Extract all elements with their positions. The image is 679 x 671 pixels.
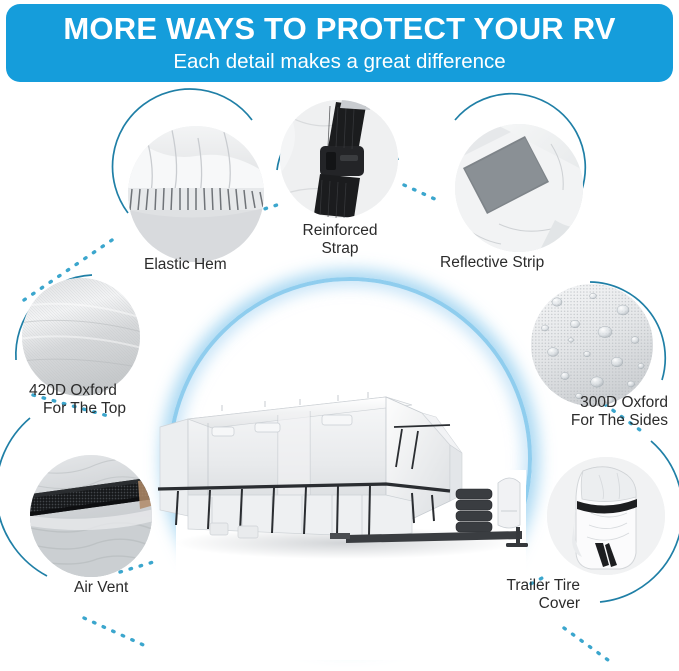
feature-label-line-1: 420D Oxford xyxy=(29,382,159,400)
feature-300d-oxford: 300D Oxford For The Sides xyxy=(531,284,653,406)
feature-label-line-2: Cover xyxy=(452,595,580,613)
oxford-300d-icon xyxy=(531,284,653,406)
air-vent-icon xyxy=(30,455,152,577)
feature-420d-oxford: 420D Oxford For The Top xyxy=(22,278,140,396)
header-banner: MORE WAYS TO PROTECT YOUR RV Each detail… xyxy=(6,4,673,82)
feature-label-line-1: Reinforced xyxy=(297,222,383,240)
feature-label-line-1: 300D Oxford xyxy=(528,394,668,412)
feature-reinforced-strap: Reinforced Strap xyxy=(280,100,398,218)
feature-elastic-hem: Elastic Hem xyxy=(128,126,264,262)
feature-reflective-strip: Reflective Strip xyxy=(455,124,583,252)
feature-label-line-1: Trailer Tire xyxy=(452,577,580,595)
feature-label-trailer-tire-cover: Trailer Tire Cover xyxy=(452,577,580,613)
reinforced-strap-icon xyxy=(280,100,398,218)
banner-title: MORE WAYS TO PROTECT YOUR RV xyxy=(63,13,615,46)
feature-label-reflective-strip: Reflective Strip xyxy=(440,254,544,272)
feature-label-line-2: For The Top xyxy=(29,400,159,418)
infographic-root: MORE WAYS TO PROTECT YOUR RV Each detail… xyxy=(0,0,679,671)
feature-label-420d-oxford: 420D Oxford For The Top xyxy=(29,382,159,418)
banner-subtitle: Each detail makes a great difference xyxy=(173,51,505,74)
feature-air-vent: Air Vent xyxy=(30,455,152,577)
feature-label-air-vent: Air Vent xyxy=(74,579,128,597)
rv-cover-illustration xyxy=(150,383,540,568)
trailer-tire-cover-icon xyxy=(547,457,665,575)
feature-label-300d-oxford: 300D Oxford For The Sides xyxy=(528,394,668,430)
feature-trailer-tire-cover: Trailer Tire Cover xyxy=(547,457,665,575)
feature-label-line-2: For The Sides xyxy=(528,412,668,430)
reflective-strip-icon xyxy=(455,124,583,252)
feature-label-reinforced-strap: Reinforced Strap xyxy=(297,222,383,258)
oxford-420d-icon xyxy=(22,278,140,396)
elastic-hem-icon xyxy=(128,126,264,262)
feature-label-line-2: Strap xyxy=(297,240,383,258)
feature-label-elastic-hem: Elastic Hem xyxy=(144,256,227,274)
